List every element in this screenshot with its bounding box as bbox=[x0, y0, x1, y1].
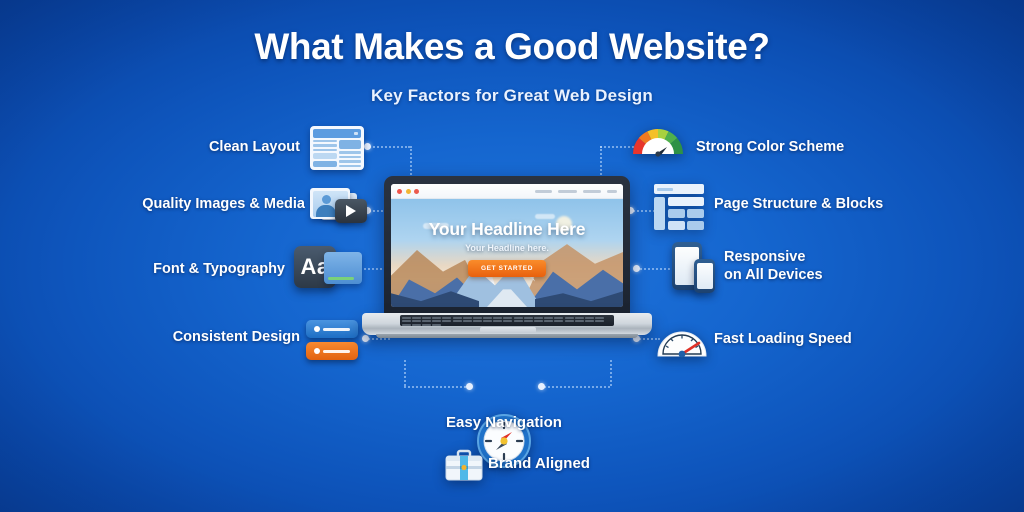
site-nav[interactable] bbox=[535, 190, 617, 193]
page-title: What Makes a Good Website? bbox=[0, 26, 1024, 68]
laptop-lid: Your Headline Here Your Headline here. G… bbox=[384, 176, 630, 316]
color-gauge-icon bbox=[630, 122, 686, 162]
connector-line bbox=[404, 360, 406, 386]
devices-icon bbox=[672, 242, 722, 298]
connector-node bbox=[538, 383, 545, 390]
hero-subheadline: Your Headline here. bbox=[391, 243, 623, 253]
connector-line bbox=[600, 146, 602, 178]
briefcase-icon bbox=[444, 448, 482, 480]
infographic-canvas: What Makes a Good Website? Key Factors f… bbox=[0, 0, 1024, 512]
wireframe-layout-icon bbox=[310, 126, 364, 170]
factor-label-clean-layout: Clean Layout bbox=[120, 138, 300, 156]
nav-link[interactable] bbox=[607, 190, 617, 193]
responsive-line-2: on All Devices bbox=[724, 267, 823, 283]
page-blocks-icon bbox=[654, 184, 704, 230]
laptop-mockup: Your Headline Here Your Headline here. G… bbox=[362, 176, 652, 346]
hero-headline: Your Headline Here bbox=[391, 219, 623, 240]
get-started-button[interactable]: GET STARTED bbox=[468, 260, 546, 277]
laptop-base-foot bbox=[376, 334, 638, 338]
mountain-landscape bbox=[391, 199, 623, 307]
window-dots bbox=[397, 189, 419, 194]
connector-line bbox=[404, 386, 470, 388]
nav-link[interactable] bbox=[535, 190, 552, 193]
factor-label-consistent-design: Consistent Design bbox=[120, 328, 300, 346]
connector-line bbox=[540, 386, 610, 388]
page-subtitle: Key Factors for Great Web Design bbox=[0, 86, 1024, 106]
connector-node bbox=[466, 383, 473, 390]
factor-label-quality-images: Quality Images & Media bbox=[100, 195, 305, 213]
responsive-line-1: Responsive bbox=[724, 249, 805, 265]
factor-label-fast-loading: Fast Loading Speed bbox=[714, 330, 934, 348]
sliders-icon bbox=[306, 320, 358, 364]
connector-line bbox=[410, 146, 412, 178]
photo-video-icon bbox=[310, 186, 370, 228]
window-minimize-dot[interactable] bbox=[406, 189, 411, 194]
laptop-screen: Your Headline Here Your Headline here. G… bbox=[391, 184, 623, 307]
browser-chrome-bar bbox=[391, 184, 623, 199]
factor-label-font-typography: Font & Typography bbox=[110, 260, 285, 278]
window-close-dot[interactable] bbox=[397, 189, 402, 194]
connector-node bbox=[364, 143, 371, 150]
factor-label-responsive: Responsive on All Devices bbox=[724, 248, 954, 284]
factor-label-strong-color-scheme: Strong Color Scheme bbox=[696, 138, 916, 156]
nav-link[interactable] bbox=[558, 190, 577, 193]
factor-label-easy-navigation: Easy Navigation bbox=[404, 414, 604, 433]
window-maximize-dot[interactable] bbox=[414, 189, 419, 194]
factor-label-page-structure: Page Structure & Blocks bbox=[714, 195, 964, 213]
nav-link[interactable] bbox=[583, 190, 601, 193]
phone-icon bbox=[694, 259, 715, 293]
factor-label-brand-aligned: Brand Aligned bbox=[488, 455, 688, 474]
connector-line bbox=[366, 146, 410, 148]
typography-aa-icon: Aa bbox=[294, 246, 364, 292]
connector-line bbox=[610, 360, 612, 386]
site-hero: Your Headline Here Your Headline here. G… bbox=[391, 199, 623, 307]
laptop-keyboard bbox=[400, 315, 614, 326]
laptop-trackpad bbox=[480, 327, 536, 333]
